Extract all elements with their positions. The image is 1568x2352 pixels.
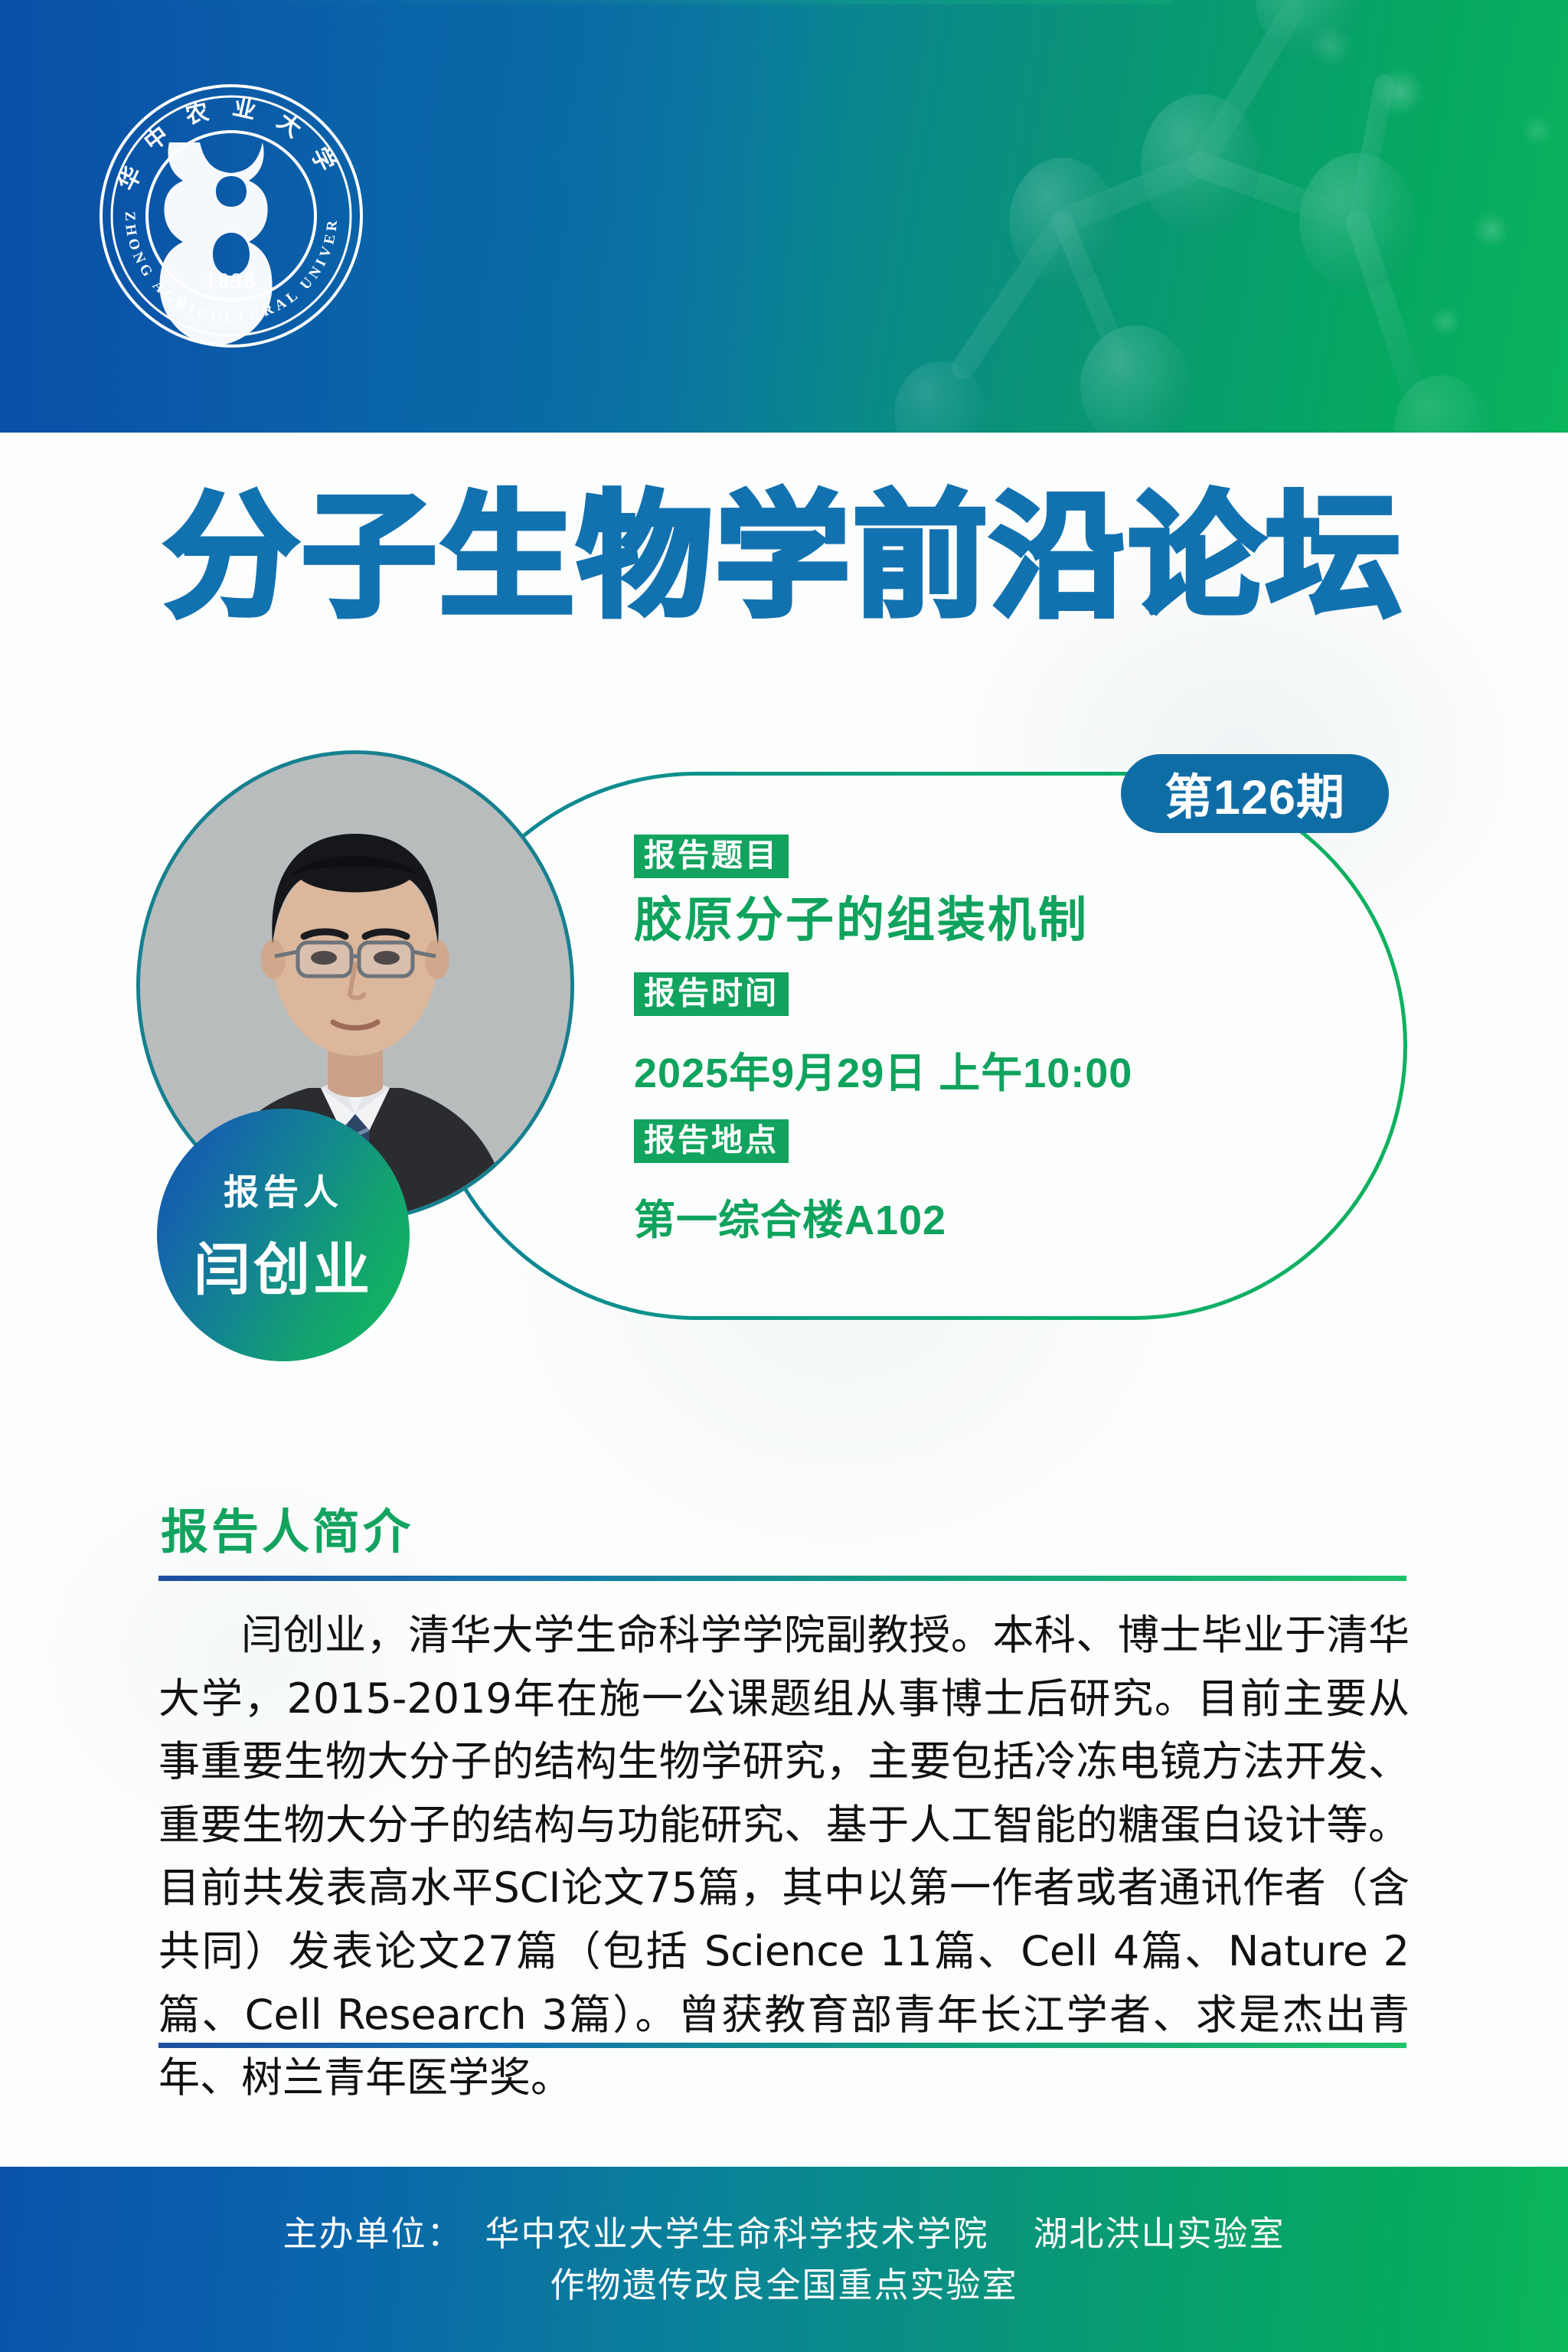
field-place: 报告地点 第一综合楼A102 <box>634 1119 1354 1246</box>
field-topic: 报告题目 胶原分子的组装机制 <box>634 835 1354 951</box>
topic-value: 胶原分子的组装机制 <box>634 881 1354 951</box>
field-time: 报告时间 2025年9月29日 上午10:00 <box>634 972 1354 1099</box>
issue-number-badge: 第126期 <box>1121 754 1389 833</box>
footer-bar: 主办单位： 华中农业大学生命科学技术学院 湖北洪山实验室 作物遗传改良全国重点实… <box>0 2167 1568 2352</box>
topic-label: 报告题目 <box>634 835 789 878</box>
bio-heading: 报告人简介 <box>161 1493 413 1562</box>
bio-divider-bottom <box>158 2043 1406 2048</box>
time-label: 报告时间 <box>634 972 789 1016</box>
time-value: 2025年9月29日 上午10:00 <box>634 1039 1354 1099</box>
footer-organizers-line2: 作物遗传改良全国重点实验室 <box>550 2259 1018 2311</box>
bio-paragraph: 闫创业，清华大学生命科学学院副教授。本科、博士毕业于清华大学，2015-2019… <box>158 1604 1410 2110</box>
poster-title: 分子生物学前沿论坛 <box>0 490 1568 625</box>
footer-organizers-line1: 主办单位： 华中农业大学生命科学技术学院 湖北洪山实验室 <box>283 2208 1285 2260</box>
poster-root: HUAZHONG AGRICULTURAL UNIVERSITY 华中农业大学 … <box>0 0 1568 2352</box>
lecture-info-block: 报告题目 胶原分子的组装机制 报告时间 2025年9月29日 上午10:00 报… <box>634 835 1354 1256</box>
svg-text:1898: 1898 <box>205 269 257 293</box>
place-label: 报告地点 <box>634 1119 789 1163</box>
top-banner: HUAZHONG AGRICULTURAL UNIVERSITY 华中农业大学 … <box>0 0 1568 433</box>
hzau-emblem-logo: HUAZHONG AGRICULTURAL UNIVERSITY 华中农业大学 … <box>98 83 364 349</box>
svg-text:华中农业大学: 华中农业大学 <box>113 93 349 194</box>
speaker-badge: 报告人 闫创业 <box>157 1109 410 1361</box>
bio-divider-top <box>158 1576 1406 1581</box>
speaker-role-label: 报告人 <box>224 1165 343 1215</box>
banner-bokeh <box>726 0 1568 433</box>
place-value: 第一综合楼A102 <box>634 1186 1354 1246</box>
speaker-name: 闫创业 <box>194 1224 373 1306</box>
